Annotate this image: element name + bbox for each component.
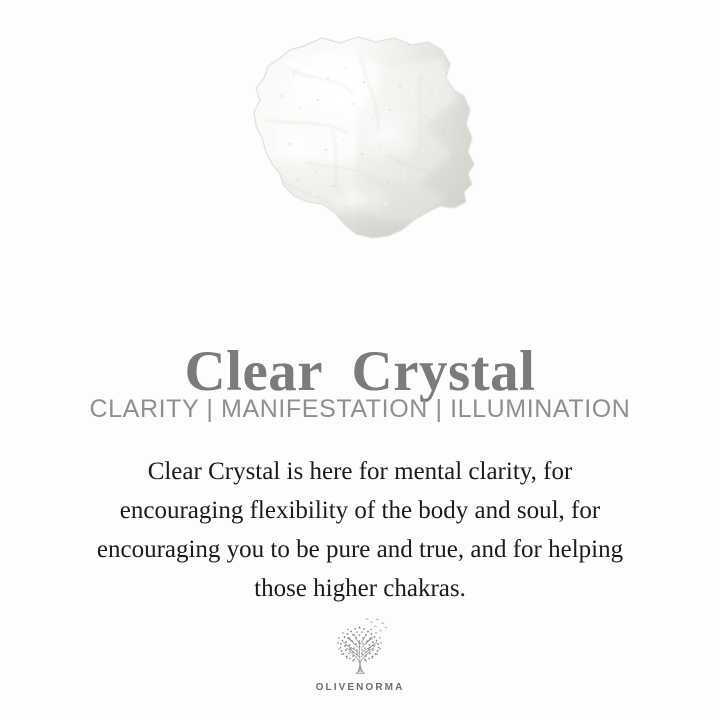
keywords-line: CLARITY | MANIFESTATION | ILLUMINATION <box>0 392 720 426</box>
description-line-2: encouraging flexibility of the body and … <box>30 491 690 530</box>
product-info-card: Clear Crystal CLARITY | MANIFESTATION | … <box>0 0 720 720</box>
tree-icon <box>324 617 396 679</box>
crystal-image <box>236 34 490 256</box>
product-image-stage <box>0 0 720 282</box>
product-description: Clear Crystal is here for mental clarity… <box>30 452 690 608</box>
brand-name: OLIVENORMA <box>316 682 405 693</box>
raw-crystal-icon <box>236 34 490 256</box>
description-line-1: Clear Crystal is here for mental clarity… <box>30 452 690 491</box>
brand-logo: OLIVENORMA <box>0 617 720 693</box>
description-line-4: those higher chakras. <box>30 569 690 608</box>
description-line-3: encouraging you to be pure and true, and… <box>30 530 690 569</box>
